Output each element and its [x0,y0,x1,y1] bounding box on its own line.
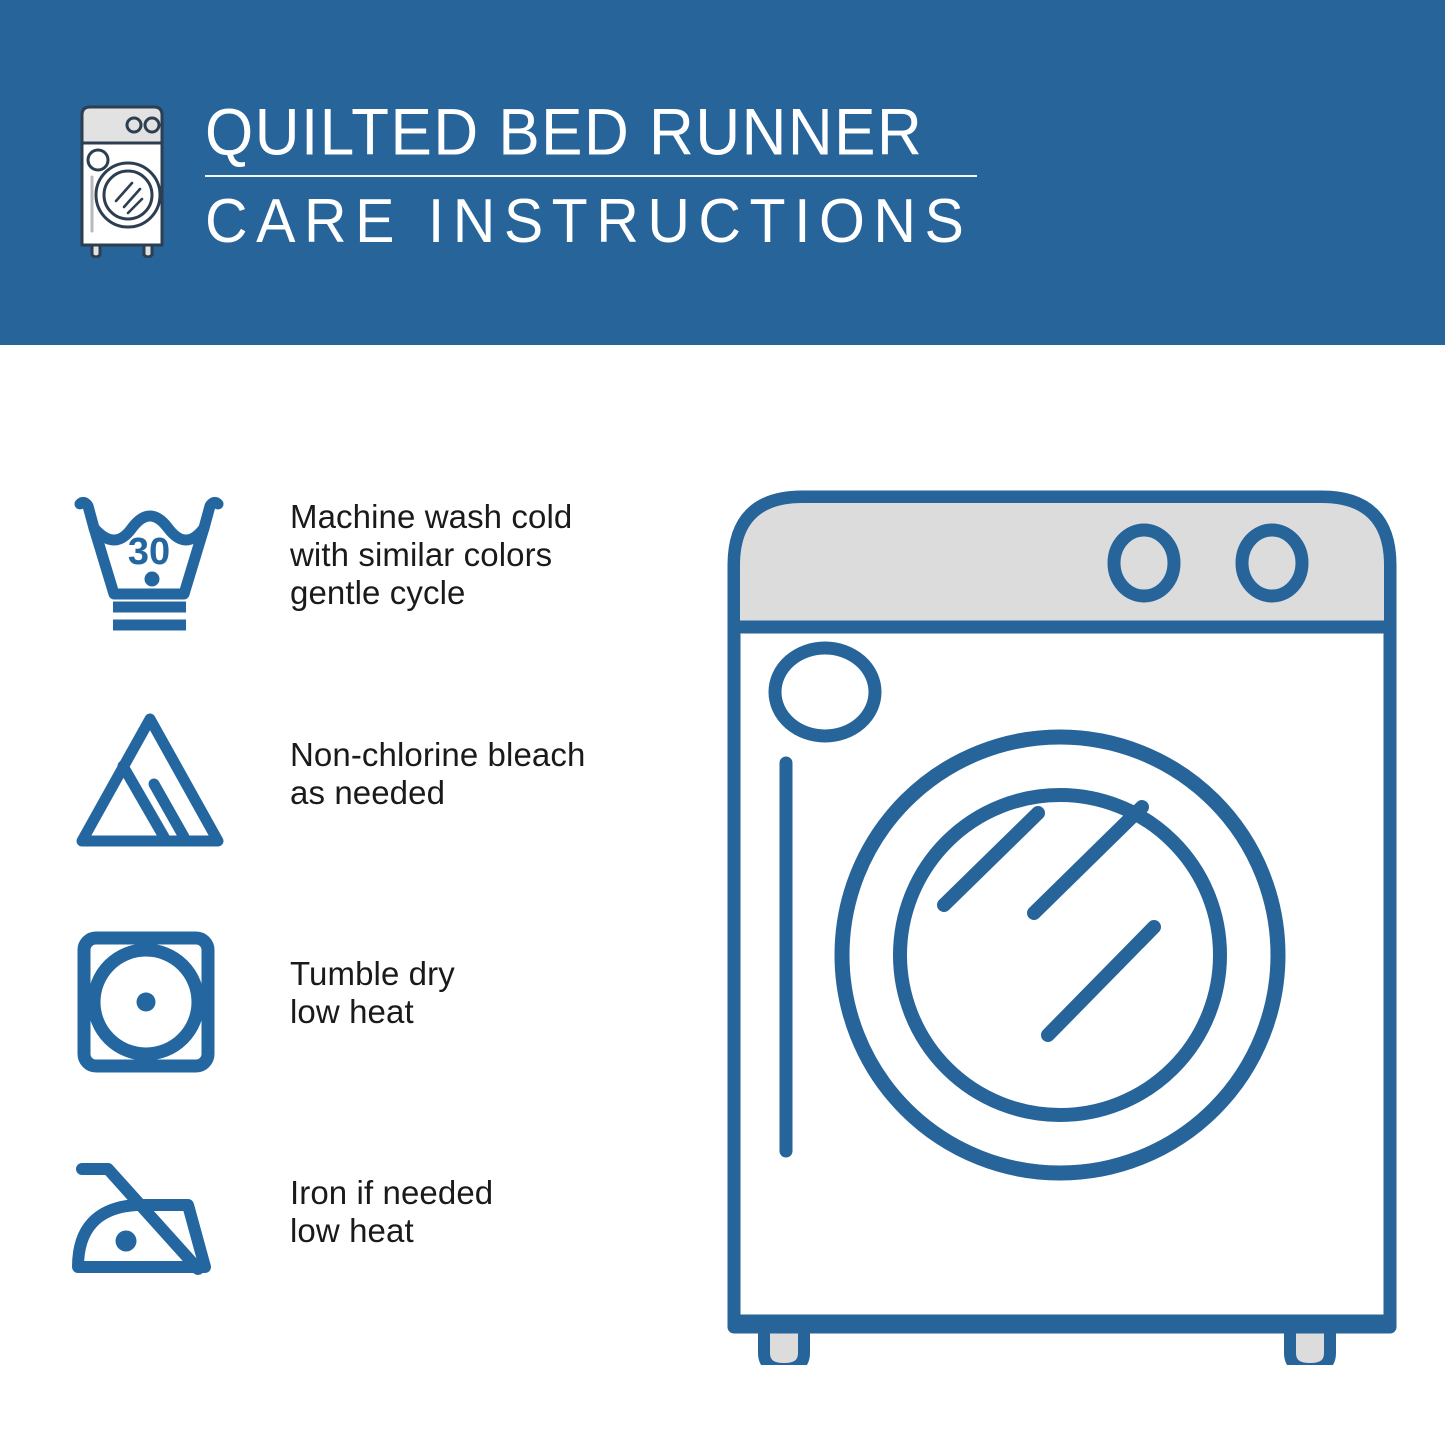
care-item-machine-wash: 30 Machine wash cold with similar colors… [70,490,650,709]
care-label-page: QUILTED BED RUNNER CARE INSTRUCTIONS [0,0,1445,1445]
iron-low-heat-icon [70,1147,230,1297]
care-item-label-bleach: Non-chlorine bleach as needed [290,736,585,812]
washer-door-inner-ring [900,795,1220,1115]
care-item-label-iron: Iron if needed low heat [290,1174,493,1250]
washing-machine-logo-icon [62,103,182,258]
non-chlorine-bleach-triangle-icon [70,709,230,859]
care-item-bleach: Non-chlorine bleach as needed [70,709,650,928]
header-title-block: QUILTED BED RUNNER CARE INSTRUCTIONS [205,95,1005,253]
care-item-iron: Iron if needed low heat [70,1147,650,1366]
title-divider [205,175,977,177]
washing-machine-illustration [712,475,1412,1365]
wash-temperature-value: 30 [128,531,170,573]
care-instruction-list: 30 Machine wash cold with similar colors… [70,490,650,1366]
care-item-label-machine-wash: Machine wash cold with similar colors ge… [290,498,572,612]
machine-wash-30-icon: 30 [70,490,230,640]
control-knob-1 [1114,530,1174,596]
care-item-label-tumble-dry: Tumble dry low heat [290,955,455,1031]
detergent-dispenser-icon [775,648,875,736]
control-knob-2 [1242,530,1302,596]
tumble-dry-low-heat-icon [70,928,230,1078]
page-subtitle: CARE INSTRUCTIONS [205,185,1005,257]
header-banner: QUILTED BED RUNNER CARE INSTRUCTIONS [0,0,1445,345]
product-title: QUILTED BED RUNNER [205,95,1005,171]
content-area: 30 Machine wash cold with similar colors… [0,345,1445,1445]
care-item-tumble-dry: Tumble dry low heat [70,928,650,1147]
